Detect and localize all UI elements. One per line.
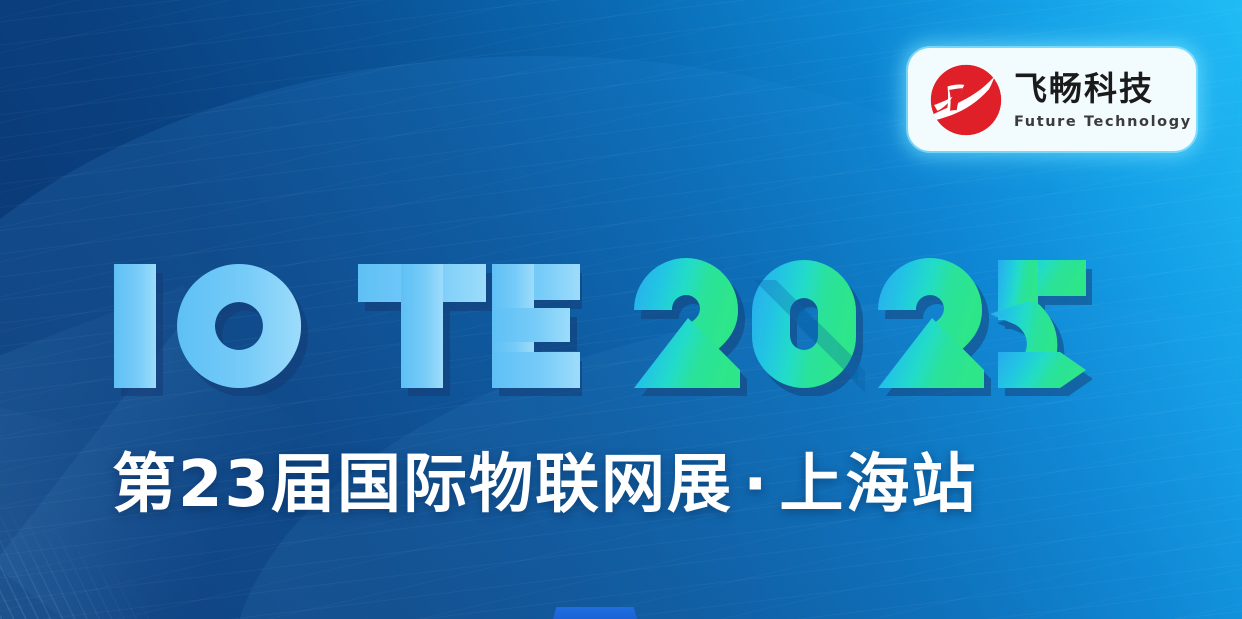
brand-wordmark-iote bbox=[112, 256, 582, 396]
subtitle-separator: · bbox=[733, 448, 779, 522]
fc-monogram-emblem-icon bbox=[924, 58, 1008, 142]
bottom-accent-bar bbox=[553, 607, 637, 619]
subtitle-location: 上海站 bbox=[779, 448, 977, 522]
company-logo-text: 飞畅科技 Future Technology bbox=[1014, 69, 1192, 130]
company-name-cn-text: 飞畅科技 bbox=[1014, 69, 1154, 108]
company-logo-card[interactable]: 飞畅科技 Future Technology bbox=[908, 48, 1196, 151]
event-subtitle: 第23届国际物联网展·上海站 bbox=[112, 452, 977, 519]
year-wordmark-2025 bbox=[626, 256, 1092, 396]
company-name-en: Future Technology bbox=[1014, 114, 1192, 130]
main-title bbox=[112, 236, 1092, 396]
iote-2025-banner: 飞畅科技 Future Technology bbox=[0, 0, 1242, 619]
subtitle-prefix: 第23届国际物联网展 bbox=[112, 448, 733, 522]
company-name-cn-icon: 飞畅科技 bbox=[1014, 69, 1184, 109]
